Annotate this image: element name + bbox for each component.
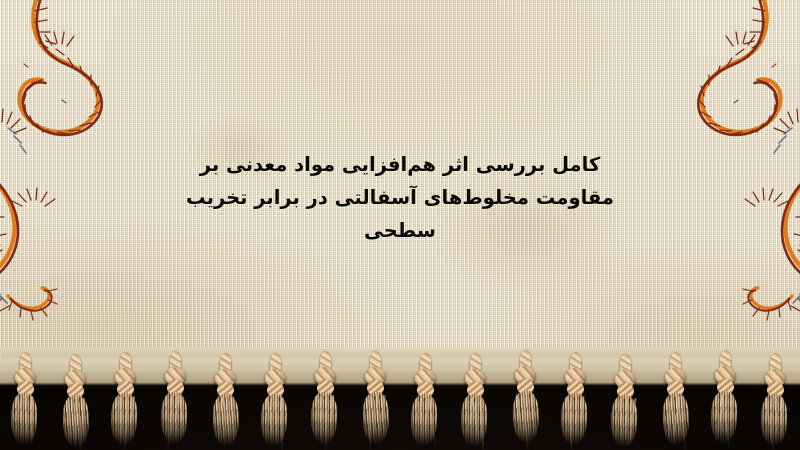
loose-thread bbox=[75, 398, 77, 448]
loose-thread bbox=[781, 397, 783, 439]
title-line-1: کامل بررسی اثر هم‌افزایی مواد معدنی بر bbox=[150, 148, 650, 181]
loose-thread bbox=[575, 396, 577, 430]
page-title: کامل بررسی اثر هم‌افزایی مواد معدنی بر م… bbox=[150, 148, 650, 247]
loose-thread bbox=[619, 398, 621, 432]
tassel bbox=[505, 350, 545, 446]
tassel bbox=[655, 352, 695, 448]
knotted-tassel-fringe bbox=[0, 352, 800, 450]
tassel bbox=[355, 351, 395, 447]
tassel bbox=[405, 353, 445, 449]
tassel bbox=[255, 353, 295, 449]
loose-thread bbox=[531, 394, 533, 428]
tassel bbox=[155, 351, 195, 447]
tassel bbox=[5, 352, 45, 448]
loose-thread bbox=[31, 396, 33, 446]
loose-thread bbox=[119, 396, 121, 446]
tassel bbox=[455, 353, 495, 449]
tassel bbox=[605, 354, 645, 450]
tassel bbox=[105, 352, 145, 448]
tassel bbox=[705, 350, 745, 446]
loose-thread bbox=[281, 397, 283, 450]
tassel bbox=[555, 352, 595, 448]
loose-thread bbox=[325, 395, 327, 450]
loose-thread bbox=[369, 395, 371, 450]
tassel bbox=[55, 354, 95, 450]
title-card-stage: کامل بررسی اثر هم‌افزایی مواد معدنی بر م… bbox=[0, 0, 800, 450]
tassel bbox=[205, 353, 245, 449]
tassel bbox=[755, 353, 795, 449]
title-line-3: سطحی bbox=[150, 214, 650, 247]
title-line-2: مقاومت مخلوط‌های آسفالتی در برابر تخریب bbox=[150, 181, 650, 214]
tassel bbox=[305, 351, 345, 447]
